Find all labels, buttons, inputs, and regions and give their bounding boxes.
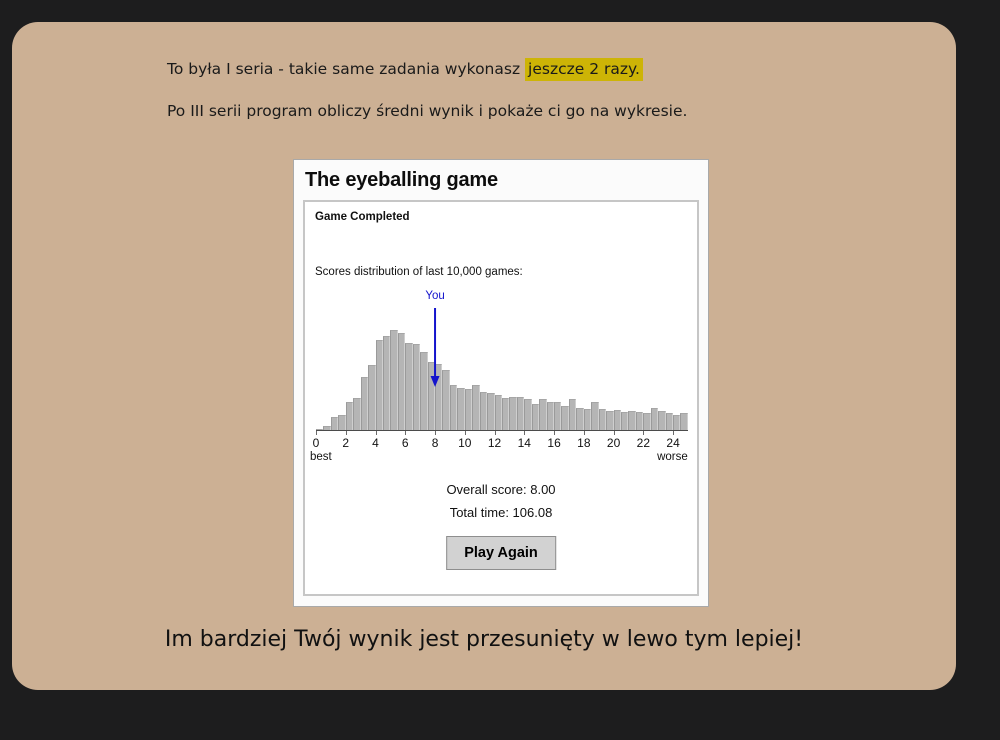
- play-again-button[interactable]: Play Again: [446, 536, 556, 570]
- histogram-bar: [398, 333, 405, 430]
- chart-plot-area: [316, 312, 688, 430]
- histogram-bar: [651, 408, 658, 430]
- histogram-bar: [673, 415, 680, 430]
- scores-distribution-chart: 024681012141618202224 best worse You: [310, 286, 695, 466]
- x-axis-tick: [435, 431, 436, 435]
- histogram-bar: [561, 406, 568, 430]
- chart-caption: Scores distribution of last 10,000 games…: [315, 266, 523, 278]
- histogram-bar: [331, 417, 338, 430]
- histogram-bar: [614, 410, 621, 430]
- intro-line-2: Po III serii program obliczy średni wyni…: [167, 100, 887, 122]
- histogram-bar: [361, 377, 368, 430]
- x-axis-tick-label: 18: [577, 436, 590, 450]
- x-axis-tick-label: 14: [518, 436, 531, 450]
- histogram-bars: [316, 312, 688, 430]
- histogram-bar: [643, 413, 650, 430]
- x-axis-tick-label: 2: [342, 436, 349, 450]
- histogram-bar: [606, 411, 613, 430]
- histogram-bar: [390, 330, 397, 430]
- x-axis-tick: [673, 431, 674, 435]
- you-label: You: [425, 290, 444, 302]
- histogram-bar: [346, 402, 353, 430]
- histogram-bar: [428, 362, 435, 430]
- x-axis-tick-label: 16: [547, 436, 560, 450]
- game-panel: Game Completed Scores distribution of la…: [303, 200, 699, 596]
- histogram-bar: [368, 365, 375, 430]
- histogram-bar: [621, 412, 628, 430]
- intro-highlight: jeszcze 2 razy.: [525, 58, 643, 81]
- histogram-bar: [666, 413, 673, 430]
- histogram-bar: [509, 397, 516, 430]
- histogram-bar: [532, 404, 539, 430]
- histogram-bar: [413, 344, 420, 430]
- x-axis-tick: [584, 431, 585, 435]
- game-status-label: Game Completed: [315, 211, 410, 223]
- x-axis-tick: [346, 431, 347, 435]
- histogram-bar: [442, 370, 449, 430]
- histogram-bar: [376, 340, 383, 430]
- histogram-bar: [539, 399, 546, 430]
- x-axis-tick-label: 8: [432, 436, 439, 450]
- histogram-bar: [517, 397, 524, 430]
- x-axis-tick: [495, 431, 496, 435]
- histogram-bar: [420, 352, 427, 430]
- eyeballing-game-card: The eyeballing game Game Completed Score…: [293, 159, 709, 607]
- x-axis-tick-label: 4: [372, 436, 379, 450]
- histogram-bar: [599, 409, 606, 430]
- histogram-bar: [576, 408, 583, 430]
- card-title: The eyeballing game: [294, 160, 708, 199]
- x-axis-tick-label: 24: [666, 436, 679, 450]
- x-axis-tick-label: 22: [637, 436, 650, 450]
- histogram-bar: [569, 399, 576, 430]
- x-axis-tick: [465, 431, 466, 435]
- axis-label-best: best: [310, 451, 332, 463]
- histogram-bar: [584, 409, 591, 430]
- x-axis-tick: [405, 431, 406, 435]
- histogram-bar: [487, 393, 494, 430]
- histogram-bar: [480, 392, 487, 430]
- x-axis-tick: [376, 431, 377, 435]
- x-axis-tick: [614, 431, 615, 435]
- histogram-bar: [435, 364, 442, 430]
- intro-text-block: To była I seria - takie same zadania wyk…: [167, 58, 887, 143]
- x-axis-tick-label: 6: [402, 436, 409, 450]
- x-axis-tick-label: 10: [458, 436, 471, 450]
- overall-score-text: Overall score: 8.00: [305, 482, 697, 497]
- histogram-bar: [472, 385, 479, 430]
- histogram-bar: [680, 413, 687, 430]
- total-time-text: Total time: 106.08: [305, 505, 697, 520]
- histogram-bar: [591, 402, 598, 430]
- histogram-bar: [338, 415, 345, 430]
- slide-background: To była I seria - takie same zadania wyk…: [12, 22, 956, 690]
- histogram-bar: [628, 411, 635, 430]
- x-axis-tick-label: 12: [488, 436, 501, 450]
- axis-label-worse: worse: [657, 451, 688, 463]
- histogram-bar: [383, 336, 390, 430]
- histogram-bar: [405, 343, 412, 430]
- histogram-bar: [554, 402, 561, 430]
- x-axis-tick: [524, 431, 525, 435]
- histogram-bar: [502, 398, 509, 430]
- histogram-bar: [658, 411, 665, 430]
- histogram-bar: [465, 389, 472, 430]
- intro-line-1-text: To była I seria - takie same zadania wyk…: [167, 60, 525, 78]
- histogram-bar: [524, 399, 531, 430]
- x-axis-tick: [554, 431, 555, 435]
- histogram-bar: [495, 395, 502, 430]
- histogram-bar: [547, 402, 554, 430]
- footer-caption: Im bardziej Twój wynik jest przesunięty …: [12, 627, 956, 652]
- x-axis-tick-label: 20: [607, 436, 620, 450]
- histogram-bar: [450, 385, 457, 430]
- x-axis-tick: [316, 431, 317, 435]
- intro-line-1: To była I seria - takie same zadania wyk…: [167, 58, 887, 80]
- x-axis-tick: [643, 431, 644, 435]
- histogram-bar: [457, 388, 464, 430]
- x-axis-tick-label: 0: [313, 436, 320, 450]
- histogram-bar: [353, 398, 360, 430]
- histogram-bar: [636, 412, 643, 430]
- x-axis-tick-labels: 024681012141618202224: [310, 436, 695, 454]
